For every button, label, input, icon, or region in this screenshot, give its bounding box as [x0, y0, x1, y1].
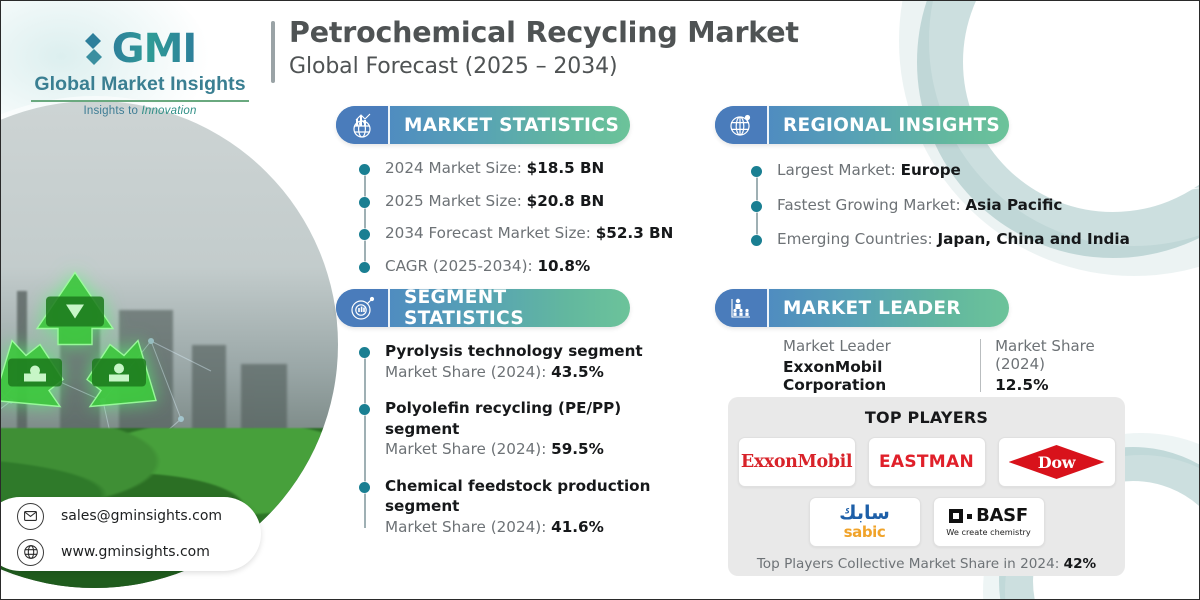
donut-chart-icon — [336, 289, 388, 327]
bullet-dot-icon — [359, 164, 370, 175]
timeline-connector — [364, 167, 366, 267]
player-logo-text: EASTMAN — [879, 452, 974, 472]
contact-email: sales@gminsights.com — [61, 508, 222, 524]
item-label: Market Share (2024): — [385, 363, 551, 381]
item-label: Emerging Countries: — [777, 230, 937, 248]
item-value: Japan, China and India — [937, 230, 1129, 248]
segment-statistics-list: Pyrolysis technology segment Market Shar… — [359, 341, 689, 537]
envelope-icon — [17, 503, 44, 530]
recycling-symbol-icon — [0, 267, 170, 442]
bullet-dot-icon — [751, 201, 762, 212]
page-subtitle: Global Forecast (2025 – 2034) — [289, 54, 799, 79]
page-title-block: Petrochemical Recycling Market Global Fo… — [271, 17, 799, 83]
bullet-dot-icon — [359, 229, 370, 240]
player-logo-eastman[interactable]: EASTMAN — [868, 437, 986, 487]
globe-icon — [17, 539, 44, 566]
infographic-canvas: GMI Global Market Insights Insights to I… — [0, 0, 1200, 600]
list-item: Chemical feedstock production segment Ma… — [359, 476, 689, 538]
top-players-footer: Top Players Collective Market Share in 2… — [728, 556, 1125, 572]
list-item: CAGR (2025-2034): 10.8% — [359, 256, 689, 277]
player-logo-basf[interactable]: BASF We create chemistry — [933, 497, 1045, 547]
logo-text: GMI — [112, 29, 197, 69]
item-label: 2025 Market Size: — [385, 192, 527, 210]
bullet-dot-icon — [751, 166, 762, 177]
item-value: $20.8 BN — [527, 192, 605, 210]
bullet-dot-icon — [359, 404, 370, 415]
item-value: $18.5 BN — [527, 159, 605, 177]
logo-company-name: Global Market Insights — [15, 73, 265, 96]
item-heading: Pyrolysis technology segment — [385, 341, 643, 362]
podium-icon — [715, 289, 767, 327]
item-heading: Chemical feedstock production segment — [385, 476, 689, 517]
player-logo-text: ExxonMobil — [741, 452, 852, 472]
item-value: $52.3 BN — [596, 224, 674, 242]
section-header-market-statistics[interactable]: MARKET STATISTICS — [336, 106, 630, 144]
market-leader-values: Market Leader ExxonMobil Corporation Mar… — [783, 337, 1143, 394]
list-item: 2024 Market Size: $18.5 BN — [359, 158, 689, 179]
market-leader-name-block: Market Leader ExxonMobil Corporation — [783, 337, 980, 394]
item-value: 59.5% — [551, 440, 604, 458]
item-label: 2034 Forecast Market Size: — [385, 224, 596, 242]
logo-tagline-prefix: Insights to — [83, 105, 141, 117]
list-item: Largest Market: Europe — [751, 160, 1171, 181]
top-players-logo-row-2: سابك sabic BASF We create chemistry — [728, 497, 1125, 547]
contact-email-row[interactable]: sales@gminsights.com — [17, 503, 261, 530]
market-leader-share-block: Market Share (2024) 12.5% — [995, 337, 1143, 394]
player-logo-dow[interactable]: Dow — [998, 437, 1116, 487]
list-item: Pyrolysis technology segment Market Shar… — [359, 341, 689, 382]
contact-website: www.gminsights.com — [61, 544, 210, 560]
bullet-dot-icon — [359, 197, 370, 208]
player-logo-exxonmobil[interactable]: ExxonMobil — [738, 437, 856, 487]
section-header-regional-insights[interactable]: REGIONAL INSIGHTS — [715, 106, 1009, 144]
market-share-label: Market Share (2024) — [995, 337, 1143, 373]
bullet-dot-icon — [359, 347, 370, 358]
market-share-value: 12.5% — [995, 376, 1143, 394]
gmi-logo[interactable]: GMI Global Market Insights Insights to I… — [15, 27, 265, 115]
contact-card: sales@gminsights.com www.gminsights.com — [0, 497, 261, 571]
list-item: 2025 Market Size: $20.8 BN — [359, 191, 689, 212]
list-item: Fastest Growing Market: Asia Pacific — [751, 195, 1171, 216]
player-logo-sabic[interactable]: سابك sabic — [809, 497, 921, 547]
player-logo-text: sabic — [844, 525, 886, 540]
market-leader-label: Market Leader — [783, 337, 980, 355]
logo-tagline: Insights to Innovation — [15, 105, 265, 117]
top-players-title: TOP PLAYERS — [728, 397, 1125, 427]
top-players-footer-value: 42% — [1064, 556, 1097, 572]
basf-dot-icon — [967, 514, 972, 519]
list-item: 2034 Forecast Market Size: $52.3 BN — [359, 223, 689, 244]
section-label: MARKET STATISTICS — [390, 115, 619, 136]
section-label: MARKET LEADER — [769, 298, 961, 319]
logo-wordmark-row: GMI — [15, 27, 265, 71]
player-logo-subtext: We create chemistry — [946, 528, 1031, 536]
item-value: 43.5% — [551, 363, 604, 381]
market-statistics-list: 2024 Market Size: $18.5 BN 2025 Market S… — [359, 158, 689, 276]
item-label: Market Share (2024): — [385, 518, 551, 536]
logo-divider — [31, 100, 249, 102]
contact-website-row[interactable]: www.gminsights.com — [17, 539, 261, 566]
item-value: Asia Pacific — [965, 196, 1062, 214]
item-value: 41.6% — [551, 518, 604, 536]
bullet-dot-icon — [359, 482, 370, 493]
list-item: Polyolefin recycling (PE/PP) segment Mar… — [359, 398, 689, 460]
player-logo-text: BASF — [976, 507, 1028, 525]
logo-tagline-accent: Innovation — [141, 105, 196, 117]
item-value: Europe — [901, 161, 961, 179]
item-label: CAGR (2025-2034): — [385, 257, 537, 275]
bullet-dot-icon — [359, 262, 370, 273]
section-label: SEGMENT STATISTICS — [390, 287, 630, 329]
player-logo-text-arabic: سابك — [839, 504, 890, 523]
item-heading: Polyolefin recycling (PE/PP) segment — [385, 398, 689, 439]
basf-square-icon — [949, 509, 963, 523]
item-label: 2024 Market Size: — [385, 159, 527, 177]
gmi-diamond-icon — [84, 31, 110, 67]
item-label: Market Share (2024): — [385, 440, 551, 458]
bullet-dot-icon — [751, 235, 762, 246]
player-logo-text: Dow — [1038, 453, 1075, 472]
regional-insights-list: Largest Market: Europe Fastest Growing M… — [751, 160, 1171, 250]
market-leader-divider — [980, 339, 982, 392]
top-players-logo-row-1: ExxonMobil EASTMAN Dow — [728, 437, 1125, 487]
top-players-footer-label: Top Players Collective Market Share in 2… — [757, 556, 1064, 572]
globe-chart-icon — [336, 106, 388, 144]
section-header-segment-statistics[interactable]: SEGMENT STATISTICS — [336, 289, 630, 327]
list-item: Emerging Countries: Japan, China and Ind… — [751, 229, 1171, 250]
item-label: Fastest Growing Market: — [777, 196, 965, 214]
item-label: Largest Market: — [777, 161, 901, 179]
title-accent-bar — [271, 21, 275, 83]
market-leader-value: ExxonMobil Corporation — [783, 358, 980, 394]
globe-pin-icon — [715, 106, 767, 144]
item-value: 10.8% — [537, 257, 590, 275]
section-header-market-leader[interactable]: MARKET LEADER — [715, 289, 1009, 327]
top-players-panel: TOP PLAYERS ExxonMobil EASTMAN Dow سابك … — [728, 397, 1125, 576]
dow-diamond-icon: Dow — [1007, 444, 1107, 480]
section-label: REGIONAL INSIGHTS — [769, 115, 1000, 136]
page-title: Petrochemical Recycling Market — [289, 17, 799, 50]
